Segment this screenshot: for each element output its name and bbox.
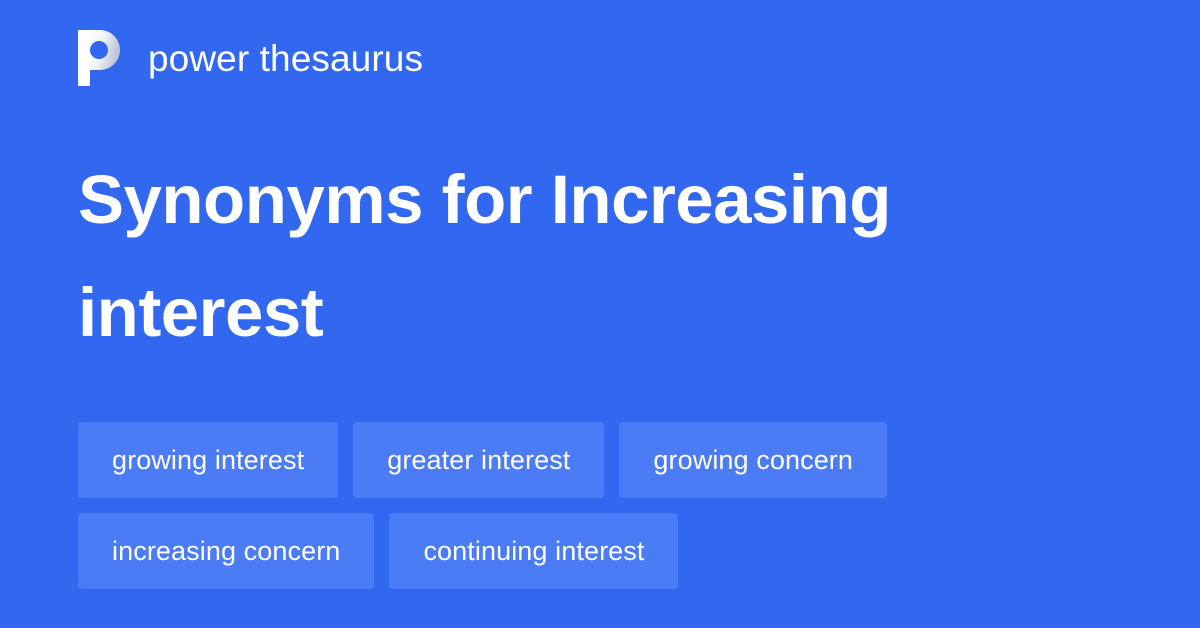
synonym-chip[interactable]: growing interest [78,422,338,498]
page-title: Synonyms for Increasing interest [78,143,1088,369]
synonym-chip[interactable]: continuing interest [389,513,678,589]
synonym-chip-list: growing interest greater interest growin… [78,422,1124,589]
synonym-chip[interactable]: greater interest [353,422,604,498]
brand-header[interactable]: power thesaurus [78,28,423,88]
brand-name: power thesaurus [148,40,423,77]
synonym-chip[interactable]: increasing concern [78,513,374,589]
power-thesaurus-b-mark-icon [78,30,126,86]
synonym-chip[interactable]: growing concern [619,422,887,498]
share-card: power thesaurus Synonyms for Increasing … [0,0,1200,628]
